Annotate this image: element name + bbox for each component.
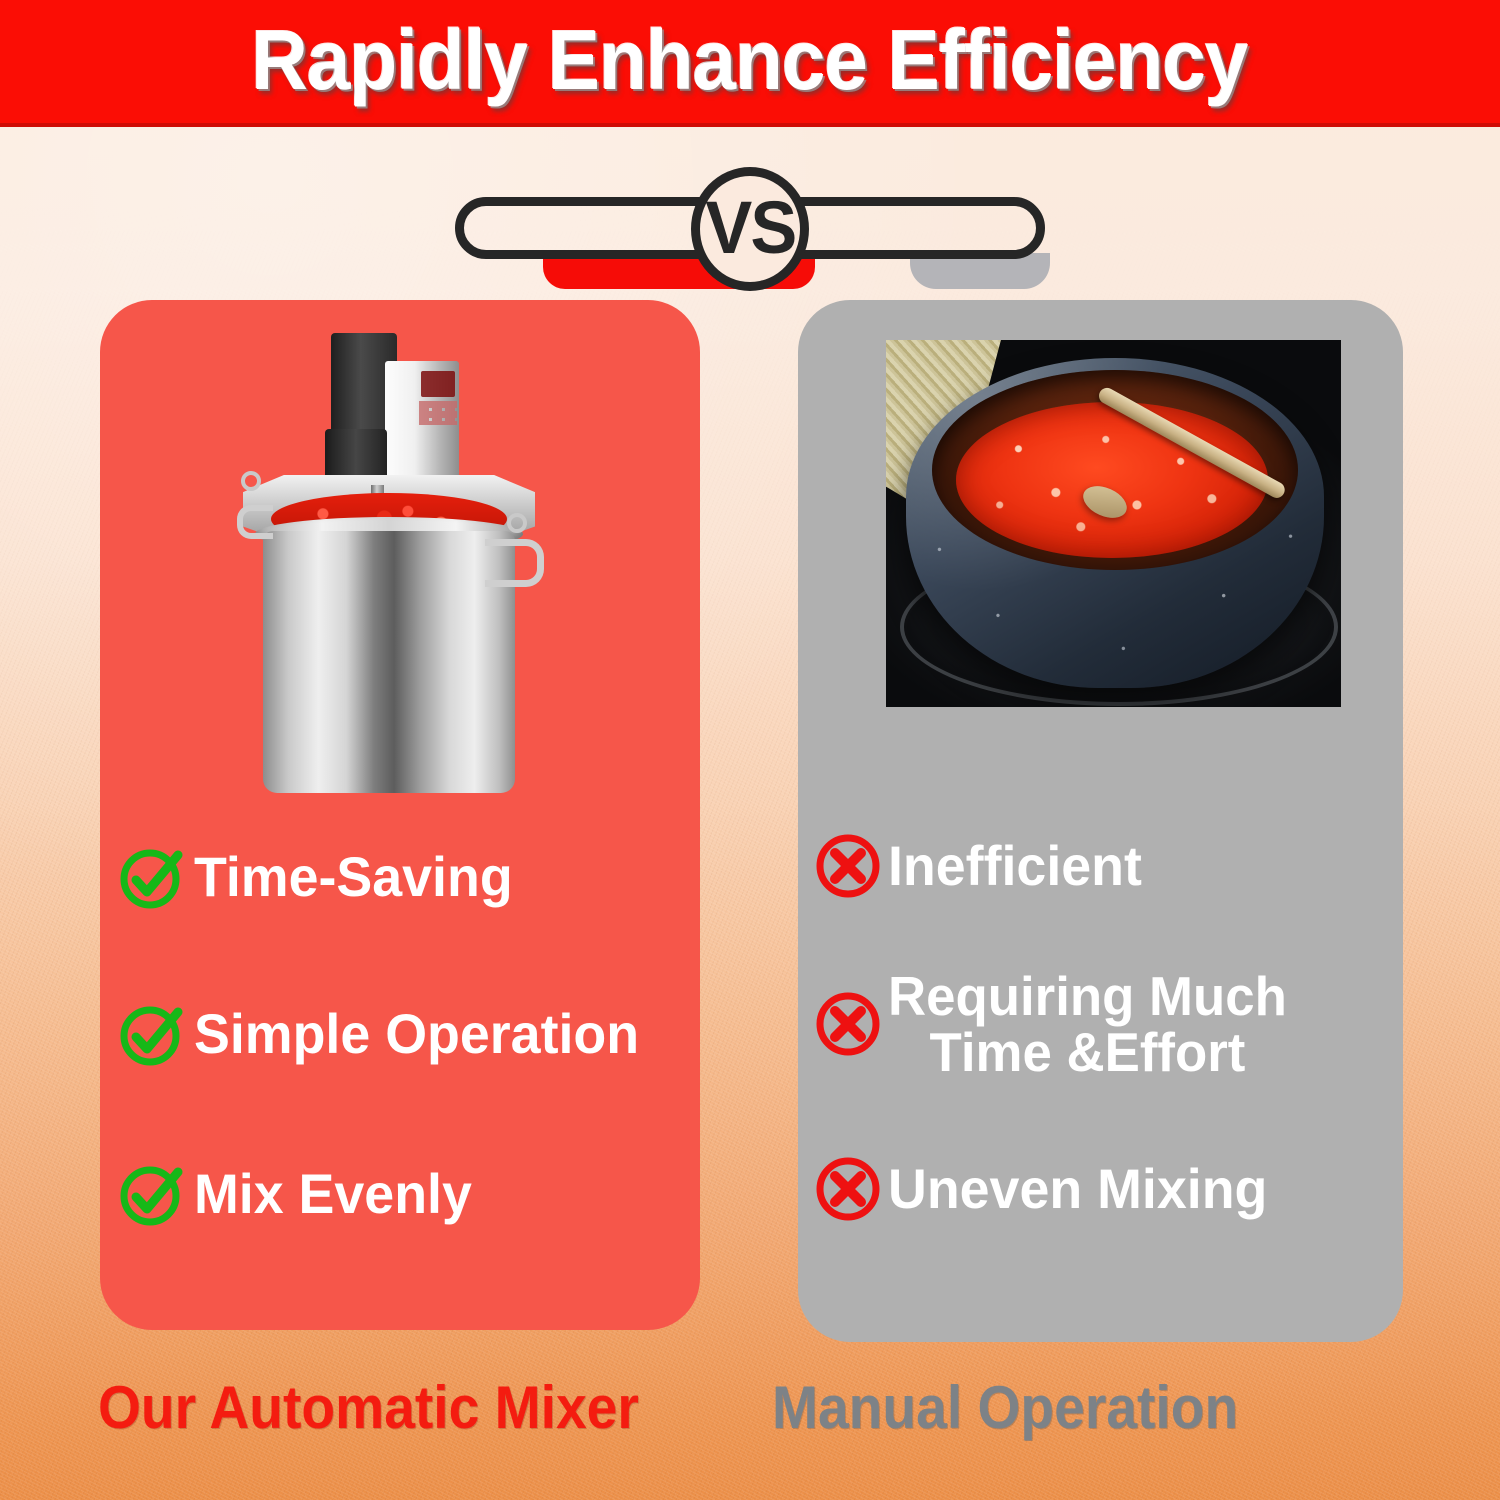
pro-card: Time-Saving Simple Operation bbox=[100, 300, 700, 1330]
pot-handle-left bbox=[237, 505, 273, 539]
list-item: Requiring Much Time &Effort bbox=[814, 968, 1304, 1080]
page-title: Rapidly Enhance Efficiency bbox=[252, 18, 1248, 102]
list-item-label: Mix Evenly bbox=[194, 1166, 472, 1222]
list-item: Simple Operation bbox=[118, 1000, 658, 1068]
check-circle-icon bbox=[118, 843, 186, 911]
x-circle-icon bbox=[814, 990, 882, 1058]
list-item: Inefficient bbox=[814, 832, 1152, 900]
list-item-label: Simple Operation bbox=[194, 1006, 639, 1062]
x-circle-icon bbox=[814, 1155, 882, 1223]
pot-handle-right bbox=[485, 539, 544, 587]
manual-stirring-pot-photo bbox=[886, 340, 1341, 707]
mixer-control-label bbox=[421, 371, 455, 397]
list-item-label: Inefficient bbox=[888, 838, 1142, 894]
vs-badge: VS bbox=[455, 155, 1045, 290]
pot-clamp-left bbox=[241, 471, 261, 491]
list-item-label: Requiring Much Time &Effort bbox=[888, 968, 1287, 1080]
con-card: Inefficient Requiring Much Time &Effort bbox=[798, 300, 1403, 1342]
list-item: Uneven Mixing bbox=[814, 1155, 1283, 1223]
list-item-label: Uneven Mixing bbox=[888, 1161, 1267, 1217]
vs-label: VS bbox=[705, 191, 795, 265]
con-caption: Manual Operation bbox=[772, 1378, 1238, 1438]
stainless-pot-body bbox=[263, 531, 515, 793]
list-item: Mix Evenly bbox=[118, 1160, 483, 1228]
list-item-label: Time-Saving bbox=[194, 849, 513, 905]
pot-clamp-right bbox=[507, 513, 527, 533]
mixer-control-grid bbox=[419, 401, 457, 425]
x-circle-icon bbox=[814, 832, 882, 900]
automatic-mixer-product-photo bbox=[215, 325, 565, 815]
tomato-sauce bbox=[956, 402, 1268, 558]
check-circle-icon bbox=[118, 1000, 186, 1068]
check-circle-icon bbox=[118, 1160, 186, 1228]
pro-caption: Our Automatic Mixer bbox=[98, 1378, 639, 1438]
infographic-page: Rapidly Enhance Efficiency VS bbox=[0, 0, 1500, 1500]
header-banner: Rapidly Enhance Efficiency bbox=[0, 0, 1500, 127]
list-item: Time-Saving bbox=[118, 843, 526, 911]
vs-circle-icon: VS bbox=[691, 167, 809, 291]
